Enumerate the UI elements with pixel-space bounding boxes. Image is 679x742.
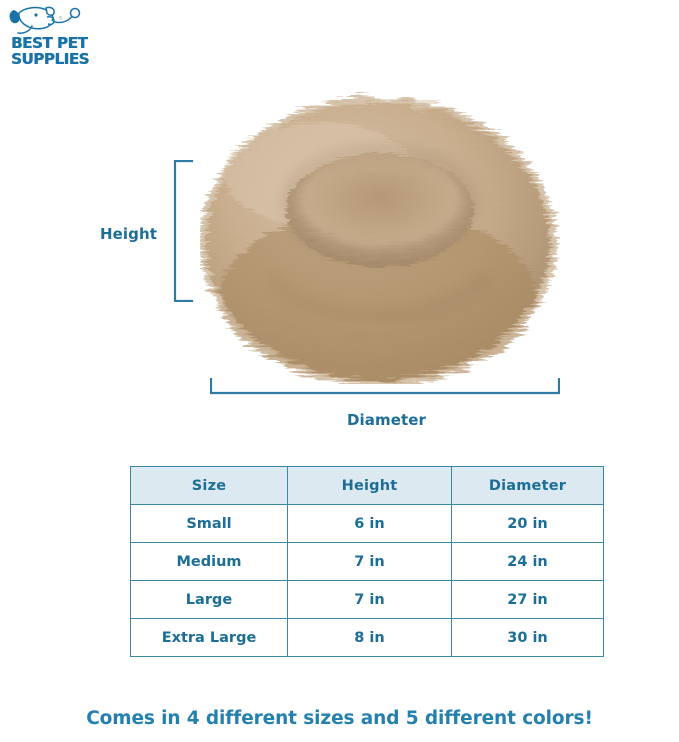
column-header-diameter: Diameter (452, 467, 604, 505)
dog-mascot-icon: ® (6, 4, 102, 38)
cell-diameter: 20 in (452, 505, 604, 543)
cell-diameter: 30 in (452, 619, 604, 657)
cell-diameter: 27 in (452, 581, 604, 619)
column-header-height: Height (288, 467, 452, 505)
table-row: Medium 7 in 24 in (131, 543, 604, 581)
column-header-size: Size (131, 467, 288, 505)
table-row: Small 6 in 20 in (131, 505, 604, 543)
footer-caption: Comes in 4 different sizes and 5 differe… (0, 708, 679, 729)
cell-height: 8 in (288, 619, 452, 657)
brand-logo: ® BEST PET SUPPLIES (6, 4, 102, 74)
height-dimension-bracket (172, 160, 194, 302)
cell-size: Large (131, 581, 288, 619)
table-row: Extra Large 8 in 30 in (131, 619, 604, 657)
cell-diameter: 24 in (452, 543, 604, 581)
diameter-dimension-label: Diameter (347, 411, 426, 429)
svg-text:®: ® (58, 15, 63, 22)
cell-size: Medium (131, 543, 288, 581)
cell-size: Extra Large (131, 619, 288, 657)
cell-size: Small (131, 505, 288, 543)
table-header-row: Size Height Diameter (131, 467, 604, 505)
brand-wordmark: BEST PET SUPPLIES (11, 36, 89, 67)
diameter-dimension-bracket (210, 378, 560, 396)
cell-height: 6 in (288, 505, 452, 543)
cell-height: 7 in (288, 581, 452, 619)
product-image-pet-bed (200, 82, 560, 384)
cell-height: 7 in (288, 543, 452, 581)
size-chart-table: Size Height Diameter Small 6 in 20 in Me… (130, 466, 604, 657)
table-row: Large 7 in 27 in (131, 581, 604, 619)
height-dimension-label: Height (100, 225, 157, 243)
